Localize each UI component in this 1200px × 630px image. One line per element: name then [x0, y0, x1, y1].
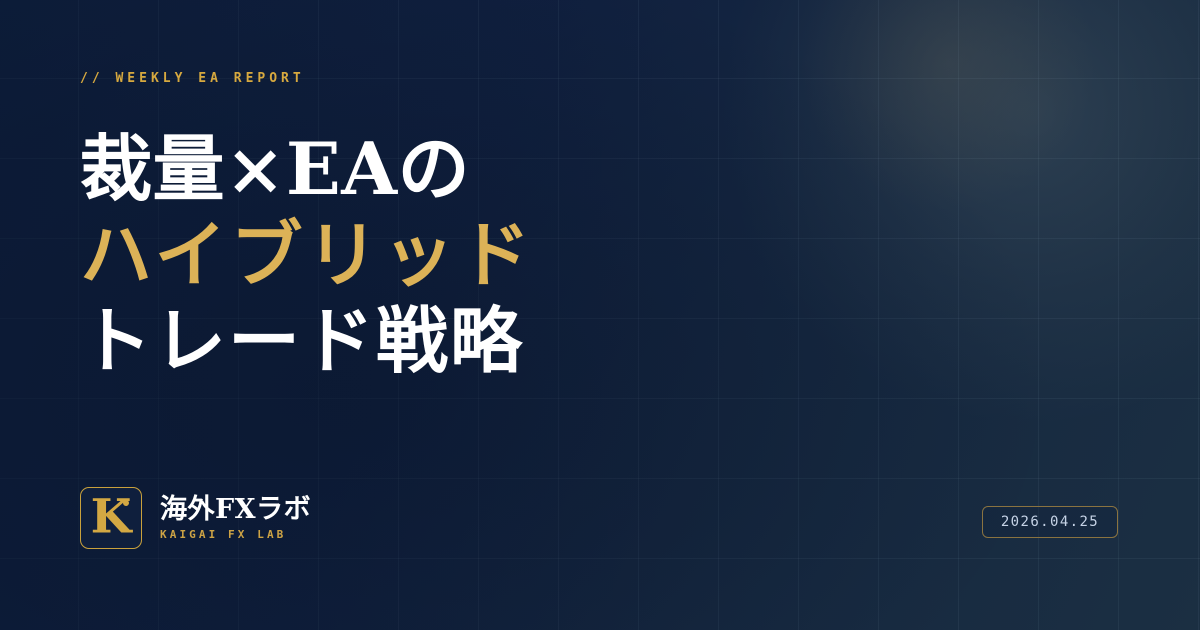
title-line-3: トレード戦略 [80, 298, 840, 384]
og-image-canvas: // WEEKLY EA REPORT 裁量×EAの ハイブリッド トレード戦略… [0, 0, 1200, 630]
brand-name-ja: 海外FXラボ [160, 495, 311, 525]
brand-logo-letter: K [81, 494, 141, 541]
content-layer: // WEEKLY EA REPORT 裁量×EAの ハイブリッド トレード戦略… [0, 0, 1200, 630]
brand-logo-dot-icon [123, 500, 129, 506]
eyebrow-label: // WEEKLY EA REPORT [80, 71, 305, 86]
page-title: 裁量×EAの ハイブリッド トレード戦略 [80, 126, 840, 384]
brand-name-en: KAIGAI FX LAB [160, 528, 311, 541]
date-badge: 2026.04.25 [982, 506, 1118, 538]
brand-logo-icon: K [80, 487, 142, 549]
brand-text-block: 海外FXラボ KAIGAI FX LAB [160, 495, 311, 541]
title-line-2-highlight: ハイブリッド [80, 212, 840, 298]
brand-lockup: K 海外FXラボ KAIGAI FX LAB [80, 487, 311, 549]
title-line-1: 裁量×EAの [80, 126, 840, 212]
